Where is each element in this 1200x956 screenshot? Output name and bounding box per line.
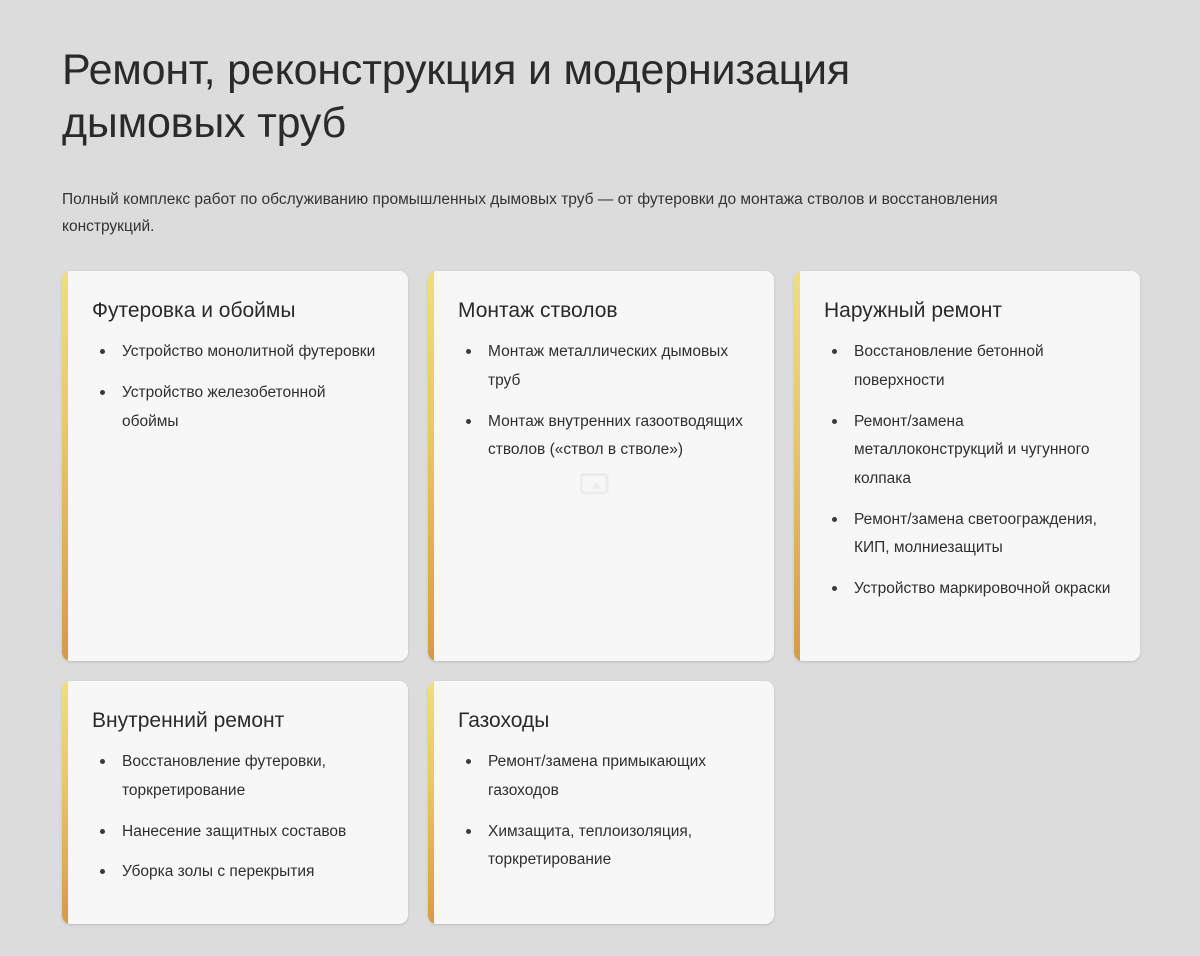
list-item-label: Химзащита, теплоизоляция, торкретировани… (488, 823, 692, 869)
bullet-icon (100, 759, 105, 764)
list-item: Нанесение защитных составов (92, 818, 384, 847)
page-container: Ремонт, реконструкция и модернизация дым… (0, 0, 1200, 924)
page-title: Ремонт, реконструкция и модернизация дым… (62, 44, 1042, 150)
bullet-icon (466, 829, 471, 834)
list-item: Восстановление футеровки, торкретировани… (92, 748, 384, 805)
list-item: Монтаж внутренних газоотводящих стволов … (458, 408, 750, 465)
list-item: Устройство железобетонной обоймы (92, 379, 384, 436)
service-card-vnutrenniy-remont[interactable]: Внутренний ремонт Восстановление футеров… (62, 681, 408, 924)
bullet-icon (832, 349, 837, 354)
list-item: Устройство монолитной футеровки (92, 338, 384, 367)
card-accent-bar (428, 681, 434, 924)
list-item-label: Устройство маркировочной окраски (854, 580, 1110, 597)
bullet-icon (466, 759, 471, 764)
list-item: Химзащита, теплоизоляция, торкретировани… (458, 818, 750, 875)
services-card-grid: Футеровка и обоймы Устройство монолитной… (62, 271, 1138, 924)
list-item: Уборка золы с перекрытия (92, 858, 384, 887)
image-placeholder-icon (578, 471, 616, 505)
card-accent-bar (794, 271, 800, 661)
service-card-gazohody[interactable]: Газоходы Ремонт/замена примыкающих газох… (428, 681, 774, 924)
page-subtitle: Полный комплекс работ по обслуживанию пр… (62, 186, 1077, 241)
card-accent-bar (428, 271, 434, 661)
card-title: Наружный ремонт (824, 297, 1116, 324)
bullet-icon (100, 829, 105, 834)
list-item-label: Нанесение защитных составов (122, 823, 346, 840)
bullet-icon (466, 349, 471, 354)
list-item-label: Восстановление футеровки, торкретировани… (122, 753, 326, 799)
bullet-icon (466, 419, 471, 424)
bullet-icon (100, 390, 105, 395)
service-card-futerovka[interactable]: Футеровка и обоймы Устройство монолитной… (62, 271, 408, 661)
list-item: Монтаж металлических дымовых труб (458, 338, 750, 395)
card-item-list: Монтаж металлических дымовых труб Монтаж… (458, 338, 750, 465)
card-item-list: Устройство монолитной футеровки Устройст… (92, 338, 384, 436)
card-title: Газоходы (458, 707, 750, 734)
card-accent-bar (62, 681, 68, 924)
list-item: Восстановление бетонной поверхности (824, 338, 1116, 395)
list-item: Ремонт/замена светоограждения, КИП, молн… (824, 506, 1116, 563)
card-item-list: Восстановление бетонной поверхности Ремо… (824, 338, 1116, 603)
list-item-label: Ремонт/замена светоограждения, КИП, молн… (854, 511, 1097, 557)
card-title: Монтаж стволов (458, 297, 750, 324)
list-item: Ремонт/замена примыкающих газоходов (458, 748, 750, 805)
list-item: Ремонт/замена металлоконструкций и чугун… (824, 408, 1116, 494)
bullet-icon (832, 517, 837, 522)
list-item-label: Ремонт/замена металлоконструкций и чугун… (854, 413, 1090, 487)
list-item-label: Монтаж металлических дымовых труб (488, 343, 728, 389)
service-card-naruzhnyy-remont[interactable]: Наружный ремонт Восстановление бетонной … (794, 271, 1140, 661)
service-card-montazh-stvolov[interactable]: Монтаж стволов Монтаж металлических дымо… (428, 271, 774, 661)
card-title: Внутренний ремонт (92, 707, 384, 734)
card-accent-bar (62, 271, 68, 661)
bullet-icon (832, 586, 837, 591)
bullet-icon (832, 419, 837, 424)
list-item: Устройство маркировочной окраски (824, 575, 1116, 604)
list-item-label: Уборка золы с перекрытия (122, 863, 314, 880)
bullet-icon (100, 349, 105, 354)
card-title: Футеровка и обоймы (92, 297, 384, 324)
list-item-label: Ремонт/замена примыкающих газоходов (488, 753, 706, 799)
list-item-label: Устройство монолитной футеровки (122, 343, 375, 360)
bullet-icon (100, 869, 105, 874)
list-item-label: Монтаж внутренних газоотводящих стволов … (488, 413, 743, 459)
list-item-label: Устройство железобетонной обоймы (122, 384, 326, 430)
card-item-list: Ремонт/замена примыкающих газоходов Химз… (458, 748, 750, 875)
list-item-label: Восстановление бетонной поверхности (854, 343, 1044, 389)
card-item-list: Восстановление футеровки, торкретировани… (92, 748, 384, 887)
